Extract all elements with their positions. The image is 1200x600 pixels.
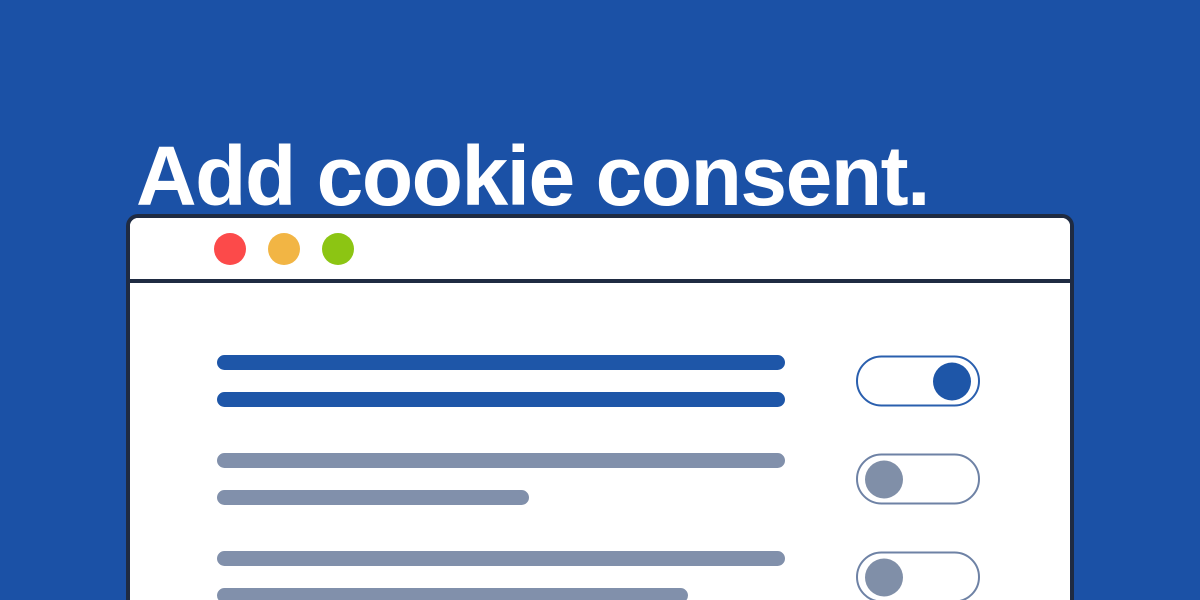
consent-toggle-2[interactable]	[856, 454, 980, 505]
consent-toggle-3[interactable]	[856, 552, 980, 600]
minimize-icon[interactable]	[268, 233, 300, 265]
page-title: Add cookie consent.	[136, 132, 1136, 220]
consent-row-text-placeholder	[217, 453, 785, 505]
consent-row-text-placeholder	[217, 355, 785, 407]
text-line-placeholder	[217, 453, 785, 468]
cookie-consent-list	[130, 283, 1070, 600]
consent-row-text-placeholder	[217, 551, 785, 600]
browser-window-mockup	[126, 214, 1074, 600]
promo-card: Add cookie consent.	[0, 0, 1200, 600]
toggle-knob-icon	[865, 460, 903, 498]
text-line-placeholder	[217, 392, 785, 407]
toggle-knob-icon	[933, 362, 971, 400]
browser-titlebar	[130, 218, 1070, 283]
traffic-light-group	[214, 233, 354, 265]
consent-toggle-1[interactable]	[856, 356, 980, 407]
close-icon[interactable]	[214, 233, 246, 265]
text-line-placeholder	[217, 490, 529, 505]
text-line-placeholder	[217, 588, 688, 600]
toggle-knob-icon	[865, 558, 903, 596]
text-line-placeholder	[217, 551, 785, 566]
maximize-icon[interactable]	[322, 233, 354, 265]
text-line-placeholder	[217, 355, 785, 370]
